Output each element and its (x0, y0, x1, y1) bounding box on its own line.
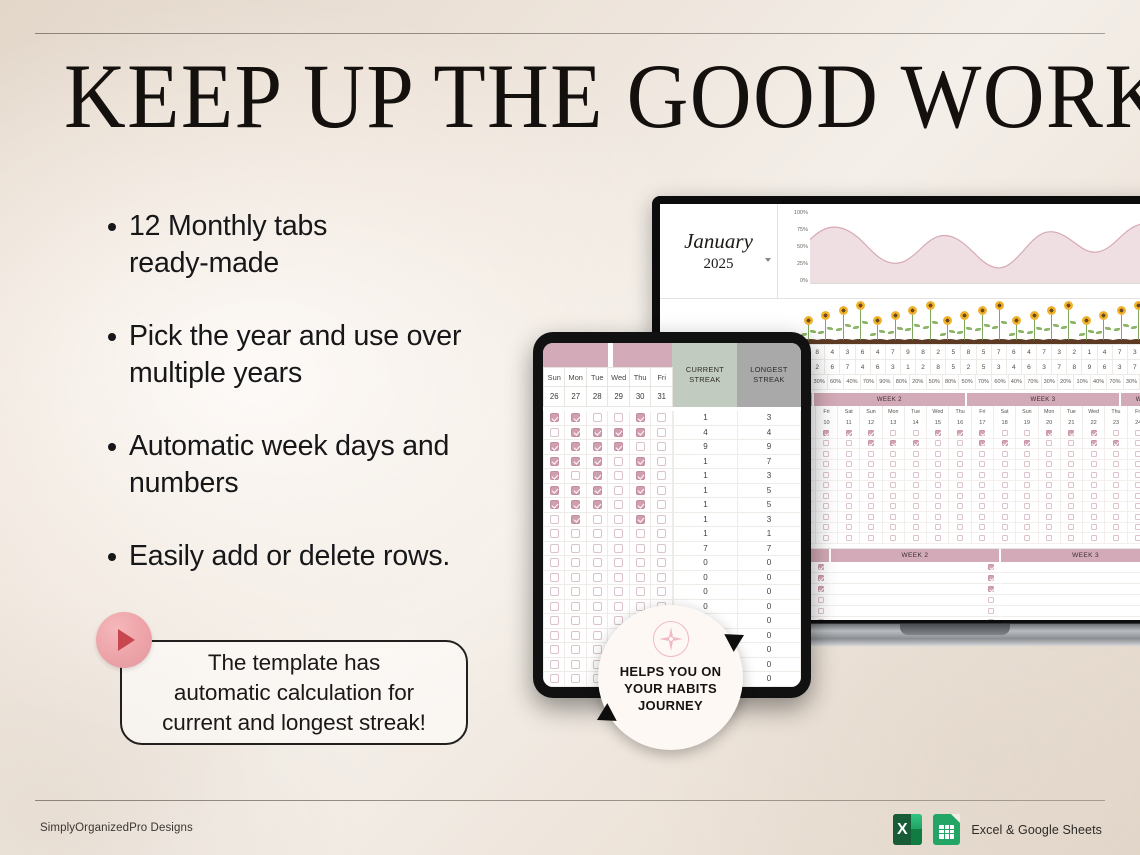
checkbox[interactable] (913, 524, 919, 530)
checkbox[interactable] (1091, 430, 1097, 436)
checkbox-cell[interactable] (994, 512, 1016, 523)
checkbox[interactable] (979, 493, 985, 499)
checkbox[interactable] (1113, 503, 1119, 509)
checkbox-cell[interactable] (586, 556, 607, 571)
checkbox-cell[interactable] (949, 460, 971, 471)
checkbox-cell[interactable] (1128, 470, 1140, 481)
checkbox-cell[interactable] (629, 484, 650, 499)
checkbox[interactable] (1024, 440, 1030, 446)
checkbox[interactable] (979, 482, 985, 488)
checkbox-cell[interactable] (860, 491, 882, 502)
checkbox[interactable] (1046, 503, 1052, 509)
checkbox-cell[interactable] (831, 562, 1002, 573)
checkbox-cell[interactable] (883, 533, 905, 544)
checkbox-cell[interactable] (543, 411, 564, 426)
checkbox[interactable] (979, 514, 985, 520)
checkbox[interactable] (1091, 440, 1097, 446)
checkbox-cell[interactable] (905, 439, 927, 450)
checkbox-cell[interactable] (629, 411, 650, 426)
checkbox-cell[interactable] (586, 571, 607, 586)
checkbox-cell[interactable] (1105, 439, 1127, 450)
checkbox-cell[interactable] (949, 533, 971, 544)
checkbox[interactable] (571, 515, 580, 524)
checkbox-cell[interactable] (972, 460, 994, 471)
checkbox[interactable] (935, 430, 941, 436)
checkbox-cell[interactable] (629, 527, 650, 542)
checkbox[interactable] (1135, 440, 1140, 446)
checkbox-cell[interactable] (883, 502, 905, 513)
checkbox-cell[interactable] (564, 672, 585, 687)
checkbox-cell[interactable] (1083, 460, 1105, 471)
checkbox[interactable] (550, 544, 559, 553)
checkbox[interactable] (1113, 514, 1119, 520)
checkbox-cell[interactable] (1083, 449, 1105, 460)
checkbox-cell[interactable] (949, 481, 971, 492)
checkbox-cell[interactable] (838, 470, 860, 481)
checkbox[interactable] (957, 482, 963, 488)
checkbox-cell[interactable] (1016, 439, 1038, 450)
checkbox[interactable] (1113, 524, 1119, 530)
checkbox[interactable] (614, 529, 623, 538)
checkbox[interactable] (957, 524, 963, 530)
checkbox-cell[interactable] (905, 481, 927, 492)
checkbox-cell[interactable] (629, 498, 650, 513)
checkbox[interactable] (935, 503, 941, 509)
checkbox-cell[interactable] (564, 426, 585, 441)
checkbox[interactable] (614, 558, 623, 567)
checkbox-cell[interactable] (1039, 491, 1061, 502)
checkbox[interactable] (593, 529, 602, 538)
checkbox[interactable] (1113, 472, 1119, 478)
checkbox-cell[interactable] (994, 470, 1016, 481)
checkbox-cell[interactable] (1039, 533, 1061, 544)
checkbox-cell[interactable] (629, 440, 650, 455)
checkbox[interactable] (823, 472, 829, 478)
checkbox-cell[interactable] (905, 502, 927, 513)
checkbox-cell[interactable] (1083, 491, 1105, 502)
checkbox-cell[interactable] (1039, 502, 1061, 513)
checkbox[interactable] (593, 486, 602, 495)
checkbox[interactable] (1002, 514, 1008, 520)
checkbox-cell[interactable] (650, 527, 672, 542)
checkbox-cell[interactable] (1061, 491, 1083, 502)
checkbox-cell[interactable] (543, 469, 564, 484)
checkbox[interactable] (571, 471, 580, 480)
checkbox[interactable] (1024, 514, 1030, 520)
checkbox[interactable] (913, 503, 919, 509)
checkbox[interactable] (1068, 535, 1074, 541)
checkbox-cell[interactable] (543, 614, 564, 629)
checkbox-cell[interactable] (564, 658, 585, 673)
checkbox-cell[interactable] (1105, 533, 1127, 544)
checkbox-cell[interactable] (838, 491, 860, 502)
checkbox[interactable] (1135, 524, 1140, 530)
checkbox-cell[interactable] (1061, 512, 1083, 523)
checkbox[interactable] (1024, 503, 1030, 509)
checkbox[interactable] (1113, 535, 1119, 541)
checkbox-cell[interactable] (883, 491, 905, 502)
checkbox[interactable] (1091, 514, 1097, 520)
checkbox-cell[interactable] (994, 502, 1016, 513)
checkbox-cell[interactable] (1061, 470, 1083, 481)
checkbox-cell[interactable] (883, 428, 905, 439)
checkbox-cell[interactable] (543, 542, 564, 557)
checkbox[interactable] (1113, 482, 1119, 488)
checkbox-cell[interactable] (543, 455, 564, 470)
checkbox[interactable] (868, 524, 874, 530)
checkbox-cell[interactable] (949, 439, 971, 450)
checkbox[interactable] (1002, 524, 1008, 530)
checkbox-cell[interactable] (816, 502, 838, 513)
play-icon[interactable] (96, 612, 152, 668)
checkbox-cell[interactable] (586, 542, 607, 557)
checkbox-cell[interactable] (1105, 481, 1127, 492)
checkbox-cell[interactable] (586, 455, 607, 470)
checkbox-cell[interactable] (564, 585, 585, 600)
checkbox-cell[interactable] (564, 411, 585, 426)
checkbox[interactable] (979, 535, 985, 541)
checkbox-cell[interactable] (607, 585, 628, 600)
checkbox-cell[interactable] (905, 491, 927, 502)
checkbox-cell[interactable] (927, 481, 949, 492)
checkbox[interactable] (1113, 440, 1119, 446)
checkbox[interactable] (593, 457, 602, 466)
checkbox-cell[interactable] (586, 498, 607, 513)
checkbox[interactable] (614, 573, 623, 582)
checkbox[interactable] (1135, 472, 1140, 478)
checkbox-cell[interactable] (543, 513, 564, 528)
checkbox-cell[interactable] (949, 470, 971, 481)
checkbox-cell[interactable] (586, 469, 607, 484)
checkbox[interactable] (935, 472, 941, 478)
checkbox[interactable] (593, 442, 602, 451)
checkbox-cell[interactable] (831, 595, 1002, 606)
month-selector[interactable]: January 2025 (660, 204, 778, 298)
checkbox[interactable] (957, 535, 963, 541)
checkbox-cell[interactable] (905, 449, 927, 460)
checkbox[interactable] (1024, 430, 1030, 436)
checkbox-cell[interactable] (586, 426, 607, 441)
checkbox-cell[interactable] (1105, 428, 1127, 439)
checkbox-cell[interactable] (883, 439, 905, 450)
checkbox[interactable] (846, 514, 852, 520)
checkbox-cell[interactable] (586, 484, 607, 499)
checkbox-cell[interactable] (543, 440, 564, 455)
checkbox-cell[interactable] (972, 439, 994, 450)
checkbox[interactable] (846, 482, 852, 488)
checkbox-cell[interactable] (994, 523, 1016, 534)
checkbox[interactable] (1024, 535, 1030, 541)
checkbox[interactable] (913, 430, 919, 436)
checkbox[interactable] (890, 503, 896, 509)
checkbox-cell[interactable] (543, 658, 564, 673)
checkbox-cell[interactable] (1061, 460, 1083, 471)
checkbox[interactable] (571, 660, 580, 669)
checkbox[interactable] (868, 535, 874, 541)
checkbox-cell[interactable] (1039, 523, 1061, 534)
checkbox-cell[interactable] (972, 491, 994, 502)
checkbox-cell[interactable] (1061, 428, 1083, 439)
checkbox[interactable] (614, 413, 623, 422)
checkbox-cell[interactable] (883, 523, 905, 534)
checkbox[interactable] (846, 430, 852, 436)
checkbox[interactable] (550, 515, 559, 524)
checkbox[interactable] (1002, 493, 1008, 499)
checkbox[interactable] (957, 472, 963, 478)
checkbox[interactable] (1002, 461, 1008, 467)
checkbox[interactable] (550, 558, 559, 567)
checkbox-cell[interactable] (543, 426, 564, 441)
checkbox[interactable] (657, 587, 666, 596)
checkbox-cell[interactable] (860, 502, 882, 513)
checkbox-cell[interactable] (650, 426, 672, 441)
checkbox-cell[interactable] (994, 481, 1016, 492)
checkbox[interactable] (890, 451, 896, 457)
checkbox[interactable] (636, 486, 645, 495)
checkbox-cell[interactable] (543, 556, 564, 571)
checkbox-cell[interactable] (816, 491, 838, 502)
checkbox[interactable] (614, 486, 623, 495)
checkbox-cell[interactable] (838, 533, 860, 544)
checkbox[interactable] (823, 451, 829, 457)
checkbox-cell[interactable] (1105, 460, 1127, 471)
checkbox[interactable] (935, 461, 941, 467)
checkbox[interactable] (1046, 451, 1052, 457)
checkbox-cell[interactable] (816, 428, 838, 439)
checkbox-cell[interactable] (1128, 523, 1140, 534)
checkbox[interactable] (988, 597, 994, 603)
checkbox[interactable] (935, 440, 941, 446)
checkbox[interactable] (823, 514, 829, 520)
checkbox-cell[interactable] (860, 512, 882, 523)
checkbox[interactable] (846, 461, 852, 467)
checkbox[interactable] (890, 482, 896, 488)
checkbox-cell[interactable] (1016, 470, 1038, 481)
checkbox-cell[interactable] (1016, 449, 1038, 460)
checkbox-cell[interactable] (816, 512, 838, 523)
checkbox-cell[interactable] (629, 542, 650, 557)
checkbox[interactable] (890, 440, 896, 446)
checkbox-cell[interactable] (586, 411, 607, 426)
checkbox[interactable] (1002, 440, 1008, 446)
checkbox-cell[interactable] (1083, 523, 1105, 534)
checkbox[interactable] (979, 430, 985, 436)
checkbox-cell[interactable] (949, 449, 971, 460)
checkbox-cell[interactable] (650, 571, 672, 586)
checkbox[interactable] (593, 428, 602, 437)
checkbox-cell[interactable] (927, 428, 949, 439)
chevron-down-icon[interactable] (765, 258, 771, 262)
checkbox-cell[interactable] (972, 481, 994, 492)
checkbox-cell[interactable] (1061, 533, 1083, 544)
checkbox-cell[interactable] (1128, 460, 1140, 471)
checkbox[interactable] (1091, 461, 1097, 467)
checkbox[interactable] (550, 631, 559, 640)
checkbox[interactable] (1024, 461, 1030, 467)
checkbox-cell[interactable] (1061, 439, 1083, 450)
checkbox-cell[interactable] (816, 460, 838, 471)
checkbox-cell[interactable] (838, 449, 860, 460)
checkbox[interactable] (890, 514, 896, 520)
checkbox-cell[interactable] (543, 600, 564, 615)
checkbox[interactable] (614, 587, 623, 596)
checkbox-cell[interactable] (1061, 449, 1083, 460)
checkbox[interactable] (636, 558, 645, 567)
checkbox[interactable] (1135, 451, 1140, 457)
checkbox-cell[interactable] (586, 629, 607, 644)
checkbox[interactable] (988, 564, 994, 570)
checkbox[interactable] (1135, 482, 1140, 488)
checkbox-cell[interactable] (1016, 460, 1038, 471)
checkbox-cell[interactable] (607, 556, 628, 571)
checkbox-cell[interactable] (1039, 460, 1061, 471)
checkbox[interactable] (846, 472, 852, 478)
checkbox[interactable] (1091, 472, 1097, 478)
checkbox-cell[interactable] (860, 533, 882, 544)
checkbox[interactable] (846, 493, 852, 499)
checkbox-cell[interactable] (607, 469, 628, 484)
checkbox[interactable] (890, 461, 896, 467)
checkbox[interactable] (957, 451, 963, 457)
checkbox[interactable] (571, 645, 580, 654)
checkbox[interactable] (657, 442, 666, 451)
checkbox[interactable] (1135, 461, 1140, 467)
checkbox[interactable] (913, 514, 919, 520)
checkbox-cell[interactable] (629, 513, 650, 528)
checkbox[interactable] (550, 457, 559, 466)
checkbox-cell[interactable] (629, 455, 650, 470)
checkbox-cell[interactable] (564, 556, 585, 571)
checkbox[interactable] (935, 482, 941, 488)
checkbox-cell[interactable] (1128, 533, 1140, 544)
checkbox[interactable] (1091, 493, 1097, 499)
checkbox-cell[interactable] (586, 600, 607, 615)
checkbox[interactable] (593, 587, 602, 596)
checkbox[interactable] (1046, 482, 1052, 488)
checkbox[interactable] (593, 413, 602, 422)
checkbox[interactable] (890, 493, 896, 499)
checkbox[interactable] (550, 616, 559, 625)
checkbox[interactable] (1091, 503, 1097, 509)
checkbox-cell[interactable] (1016, 523, 1038, 534)
checkbox[interactable] (657, 515, 666, 524)
checkbox-cell[interactable] (838, 502, 860, 513)
checkbox[interactable] (1046, 535, 1052, 541)
checkbox[interactable] (957, 430, 963, 436)
checkbox-cell[interactable] (1105, 470, 1127, 481)
checkbox[interactable] (636, 428, 645, 437)
checkbox-cell[interactable] (1001, 562, 1140, 573)
checkbox[interactable] (593, 645, 602, 654)
checkbox[interactable] (1135, 430, 1140, 436)
checkbox-cell[interactable] (543, 484, 564, 499)
checkbox[interactable] (636, 573, 645, 582)
checkbox[interactable] (890, 430, 896, 436)
checkbox-cell[interactable] (1001, 595, 1140, 606)
checkbox[interactable] (1068, 472, 1074, 478)
checkbox[interactable] (1024, 482, 1030, 488)
checkbox[interactable] (657, 500, 666, 509)
checkbox-cell[interactable] (629, 426, 650, 441)
checkbox[interactable] (571, 631, 580, 640)
checkbox[interactable] (890, 524, 896, 530)
checkbox[interactable] (593, 602, 602, 611)
checkbox-cell[interactable] (816, 523, 838, 534)
checkbox-cell[interactable] (564, 643, 585, 658)
checkbox[interactable] (1135, 493, 1140, 499)
checkbox-cell[interactable] (564, 455, 585, 470)
checkbox-cell[interactable] (1016, 428, 1038, 439)
checkbox[interactable] (1046, 524, 1052, 530)
checkbox[interactable] (571, 413, 580, 422)
checkbox[interactable] (657, 471, 666, 480)
checkbox[interactable] (890, 472, 896, 478)
checkbox-cell[interactable] (650, 455, 672, 470)
checkbox[interactable] (550, 442, 559, 451)
checkbox-cell[interactable] (860, 428, 882, 439)
checkbox[interactable] (1113, 451, 1119, 457)
checkbox[interactable] (979, 451, 985, 457)
checkbox-cell[interactable] (543, 672, 564, 687)
checkbox[interactable] (818, 564, 824, 570)
checkbox-cell[interactable] (629, 469, 650, 484)
checkbox-cell[interactable] (564, 527, 585, 542)
checkbox[interactable] (657, 544, 666, 553)
checkbox-cell[interactable] (650, 411, 672, 426)
checkbox-cell[interactable] (607, 426, 628, 441)
checkbox-cell[interactable] (607, 542, 628, 557)
checkbox[interactable] (1113, 493, 1119, 499)
checkbox-cell[interactable] (927, 449, 949, 460)
checkbox-cell[interactable] (816, 470, 838, 481)
checkbox-cell[interactable] (860, 439, 882, 450)
checkbox-cell[interactable] (1083, 470, 1105, 481)
checkbox-cell[interactable] (994, 428, 1016, 439)
checkbox-cell[interactable] (586, 527, 607, 542)
checkbox[interactable] (1091, 451, 1097, 457)
checkbox[interactable] (1024, 451, 1030, 457)
checkbox[interactable] (657, 413, 666, 422)
checkbox-cell[interactable] (650, 585, 672, 600)
checkbox[interactable] (636, 413, 645, 422)
checkbox[interactable] (1068, 503, 1074, 509)
checkbox-cell[interactable] (860, 523, 882, 534)
checkbox[interactable] (988, 586, 994, 592)
checkbox[interactable] (957, 514, 963, 520)
checkbox[interactable] (1002, 451, 1008, 457)
checkbox-cell[interactable] (905, 428, 927, 439)
checkbox[interactable] (550, 486, 559, 495)
checkbox[interactable] (868, 430, 874, 436)
checkbox[interactable] (913, 461, 919, 467)
checkbox[interactable] (957, 503, 963, 509)
checkbox-cell[interactable] (607, 600, 628, 615)
checkbox[interactable] (550, 529, 559, 538)
checkbox[interactable] (571, 486, 580, 495)
checkbox-cell[interactable] (1016, 502, 1038, 513)
checkbox-cell[interactable] (650, 513, 672, 528)
checkbox[interactable] (868, 493, 874, 499)
checkbox[interactable] (593, 616, 602, 625)
checkbox[interactable] (593, 631, 602, 640)
checkbox[interactable] (614, 457, 623, 466)
checkbox-cell[interactable] (816, 449, 838, 460)
checkbox[interactable] (818, 586, 824, 592)
checkbox[interactable] (550, 573, 559, 582)
checkbox-cell[interactable] (994, 449, 1016, 460)
checkbox-cell[interactable] (972, 533, 994, 544)
checkbox-cell[interactable] (972, 512, 994, 523)
